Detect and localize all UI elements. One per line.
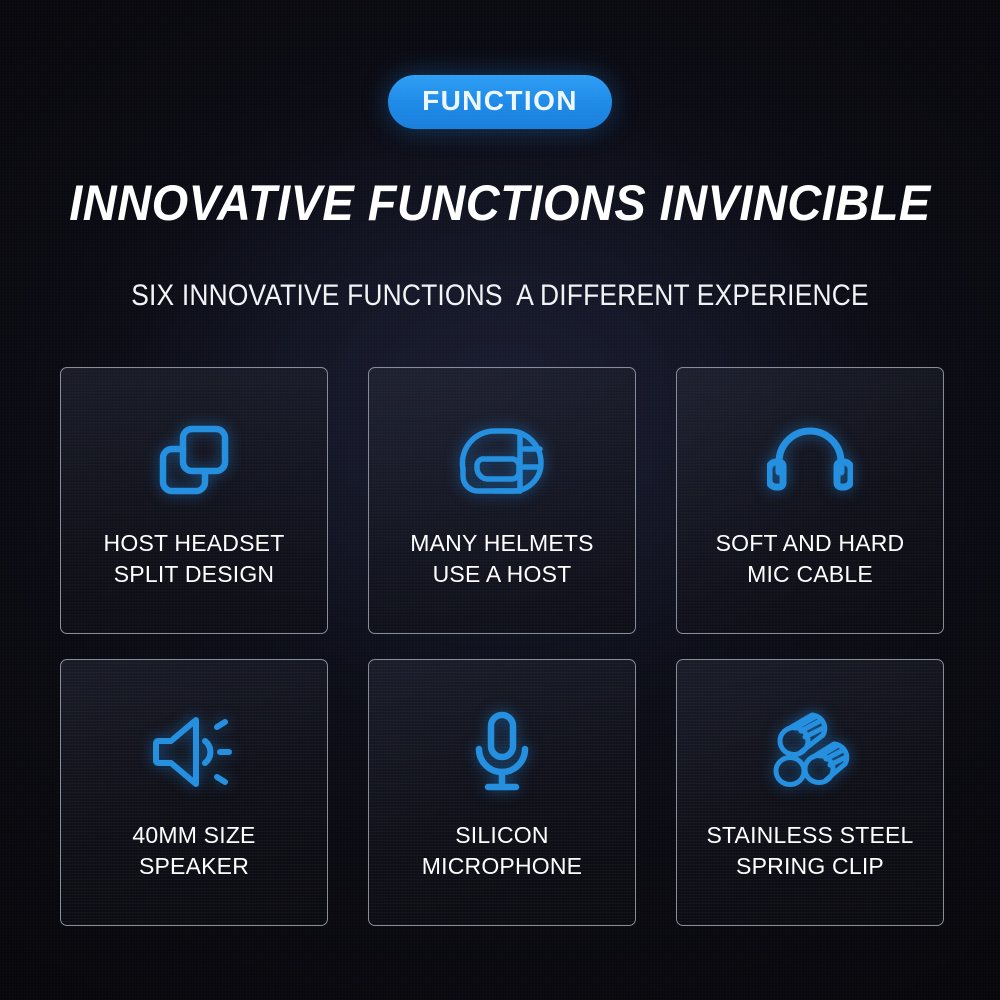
feature-card-40mm-size-speaker: 40MM SIZE SPEAKER [60,659,328,926]
steel-tubes-icon [768,710,852,794]
feature-card-label: STAINLESS STEEL SPRING CLIP [706,820,913,882]
feature-card-soft-and-hard-mic-cable: SOFT AND HARD MIC CABLE [676,367,944,634]
feature-card-label: SILICON MICROPHONE [422,820,582,882]
feature-card-label: SOFT AND HARD MIC CABLE [716,528,905,590]
feature-card-silicon-microphone: SILICON MICROPHONE [368,659,636,926]
feature-card-many-helmets-use-a-host: MANY HELMETS USE A HOST [368,367,636,634]
speaker-icon [153,710,235,794]
helmet-icon [456,418,548,502]
split-squares-icon [154,418,234,502]
function-badge: FUNCTION [388,75,612,129]
page-subtitle: SIX INNOVATIVE FUNCTIONS A DIFFERENT EXP… [60,279,940,313]
feature-card-label: 40MM SIZE SPEAKER [132,820,255,882]
headphones-icon [767,418,853,502]
microphone-icon [469,710,535,794]
feature-grid: HOST HEADSET SPLIT DESIGN [60,367,944,926]
feature-card-stainless-steel-spring-clip: STAINLESS STEEL SPRING CLIP [676,659,944,926]
badge-container: FUNCTION [0,75,1000,129]
feature-card-host-headset-split-design: HOST HEADSET SPLIT DESIGN [60,367,328,634]
page-title: INNOVATIVE FUNCTIONS INVINCIBLE [30,174,970,232]
feature-card-label: MANY HELMETS USE A HOST [410,528,593,590]
feature-poster: FUNCTION INNOVATIVE FUNCTIONS INVINCIBLE… [0,0,1000,1000]
feature-card-label: HOST HEADSET SPLIT DESIGN [104,528,285,590]
